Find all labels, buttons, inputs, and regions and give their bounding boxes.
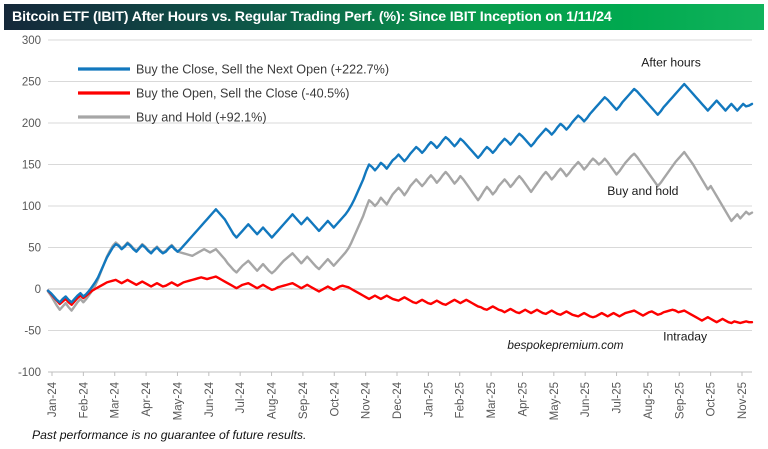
y-axis-tick-label: 0	[35, 284, 41, 296]
x-axis-tick-label: Jul-24	[235, 381, 247, 413]
y-axis-tick-label: 50	[28, 243, 41, 255]
x-axis-tick-label: Oct-24	[329, 381, 341, 416]
series-line-buy-and-hold	[48, 152, 752, 311]
chart-root: Bitcoin ETF (IBIT) After Hours vs. Regul…	[0, 0, 768, 449]
y-axis-tick-label: 300	[22, 35, 41, 47]
x-axis-tick-label: Mar-24	[110, 381, 122, 418]
x-axis-tick-label: Feb-25	[455, 382, 467, 418]
y-axis-tick-label: -50	[24, 326, 41, 338]
annotation-buy-and-hold: Buy and hold	[607, 184, 678, 198]
legend-label-intraday: Buy the Open, Sell the Close (-40.5%)	[136, 87, 350, 101]
y-axis-tick-label: 250	[22, 77, 41, 89]
x-axis-tick-label: Jun-25	[580, 382, 592, 417]
x-axis-tick-label: Feb-24	[78, 381, 90, 418]
x-axis-tick-label: Sep-24	[298, 381, 310, 419]
y-axis-tick-label: 200	[22, 118, 41, 130]
annotation-intraday: Intraday	[663, 329, 708, 343]
x-axis-tick-label: Apr-25	[517, 382, 529, 417]
legend-label-after_hours: Buy the Close, Sell the Next Open (+222.…	[136, 63, 389, 77]
x-axis-tick-label: Mar-25	[486, 382, 498, 418]
x-axis-tick-label: Apr-24	[141, 381, 153, 416]
x-axis-tick-label: Sep-25	[674, 382, 686, 419]
x-axis-ticks: Jan-24Feb-24Mar-24Apr-24May-24Jun-24Jul-…	[47, 372, 752, 420]
x-axis-tick-label: Jun-24	[204, 381, 216, 417]
disclaimer-footnote: Past performance is no guarantee of futu…	[32, 428, 306, 442]
x-axis-tick-label: Jan-25	[423, 382, 435, 417]
x-axis-tick-label: Jul-25	[612, 382, 624, 413]
chart-plot-area: -100-50050100150200250300 Jan-24Feb-24Ma…	[0, 0, 768, 449]
x-axis-tick-label: Jan-24	[47, 381, 59, 417]
x-axis-tick-label: Nov-24	[361, 381, 373, 419]
annotation-after-hours: After hours	[641, 56, 701, 70]
watermark-label: bespokepremium.com	[507, 338, 623, 352]
x-axis-tick-label: Oct-25	[706, 382, 718, 417]
x-axis-tick-label: Nov-25	[737, 382, 749, 419]
y-axis-ticks: -100-50050100150200250300	[18, 35, 41, 379]
x-axis-tick-label: Aug-24	[267, 381, 279, 419]
legend-label-buy_and_hold: Buy and Hold (+92.1%)	[136, 111, 267, 125]
series-line-intraday	[48, 277, 752, 323]
y-axis-tick-label: -100	[18, 367, 41, 379]
y-axis-tick-label: 150	[22, 160, 41, 172]
legend-group: Buy the Close, Sell the Next Open (+222.…	[78, 63, 389, 125]
x-axis-tick-label: Dec-24	[392, 381, 404, 419]
y-axis-tick-label: 100	[22, 201, 41, 213]
x-axis-tick-label: May-25	[549, 382, 561, 420]
x-axis-tick-label: Aug-25	[643, 382, 655, 419]
x-axis-tick-label: May-24	[172, 381, 184, 420]
